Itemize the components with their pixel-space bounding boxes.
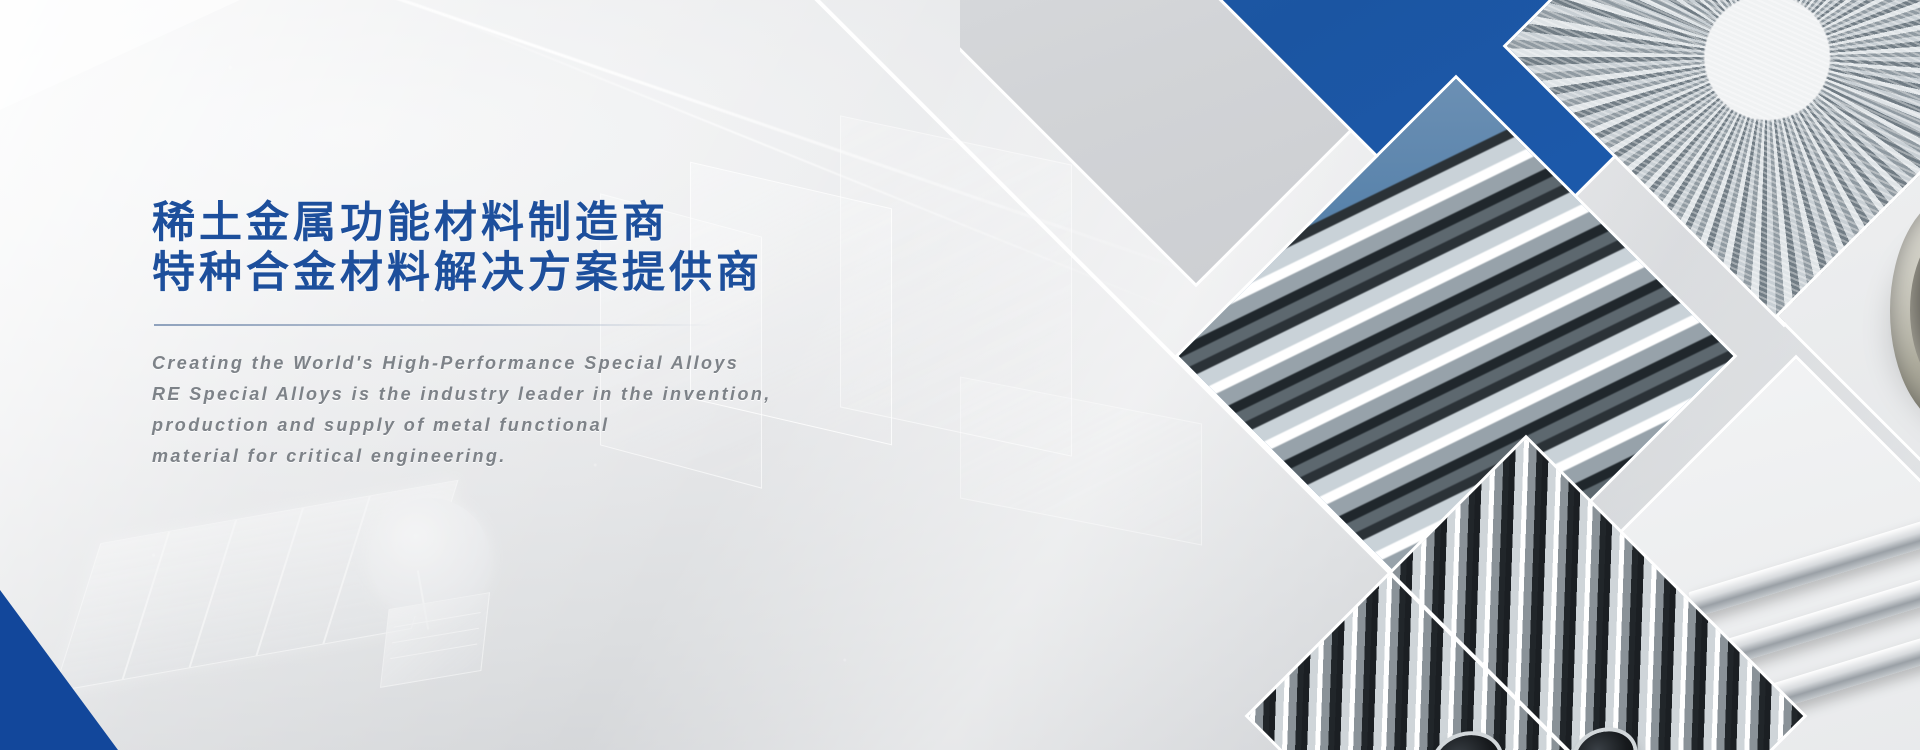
- satellite-watermark: [70, 450, 630, 750]
- headline-line-2: 特种合金材料解决方案提供商: [152, 249, 763, 297]
- top-left-wedge: [0, 0, 240, 110]
- bottom-left-blue-corner: [0, 590, 118, 750]
- hero-subtitle: Creating the World's High-Performance Sp…: [152, 348, 1092, 472]
- strip-coil-shape: [1896, 186, 1920, 436]
- subtitle-line-3: production and supply of metal functiona…: [152, 410, 1092, 441]
- hero-banner: 稀土金属功能材料制造商 特种合金材料解决方案提供商 Creating the W…: [0, 0, 1920, 750]
- image-collage: [960, 0, 1920, 750]
- hero-copy: 稀土金属功能材料制造商 特种合金材料解决方案提供商 Creating the W…: [152, 198, 1092, 472]
- title-divider: [154, 324, 714, 326]
- subtitle-line-1: Creating the World's High-Performance Sp…: [152, 348, 1092, 379]
- subtitle-line-4: material for critical engineering.: [152, 441, 1092, 472]
- headline-line-1: 稀土金属功能材料制造商: [152, 199, 669, 247]
- subtitle-line-2: RE Special Alloys is the industry leader…: [152, 379, 1092, 410]
- page-title: 稀土金属功能材料制造商 特种合金材料解决方案提供商: [152, 198, 1092, 298]
